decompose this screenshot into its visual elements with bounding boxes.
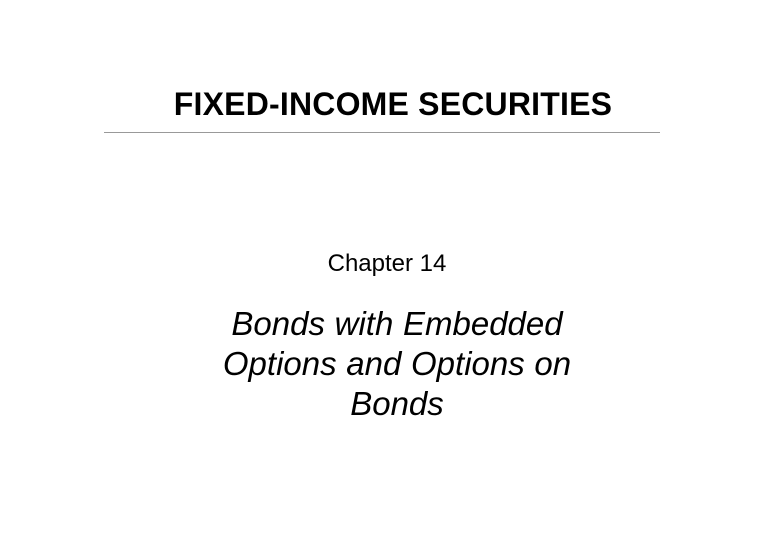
title-slide: FIXED-INCOME SECURITIES Chapter 14 Bonds… bbox=[0, 0, 768, 543]
chapter-label: Chapter 14 bbox=[6, 250, 768, 278]
slide-header: FIXED-INCOME SECURITIES bbox=[0, 86, 768, 122]
slide-subtitle: Bonds with Embedded Options and Options … bbox=[219, 304, 575, 424]
page-title: FIXED-INCOME SECURITIES bbox=[18, 86, 768, 122]
subtitle-container: Bonds with Embedded Options and Options … bbox=[0, 304, 768, 424]
header-divider bbox=[104, 132, 660, 133]
slide-body: Chapter 14 Bonds with Embedded Options a… bbox=[0, 250, 768, 424]
